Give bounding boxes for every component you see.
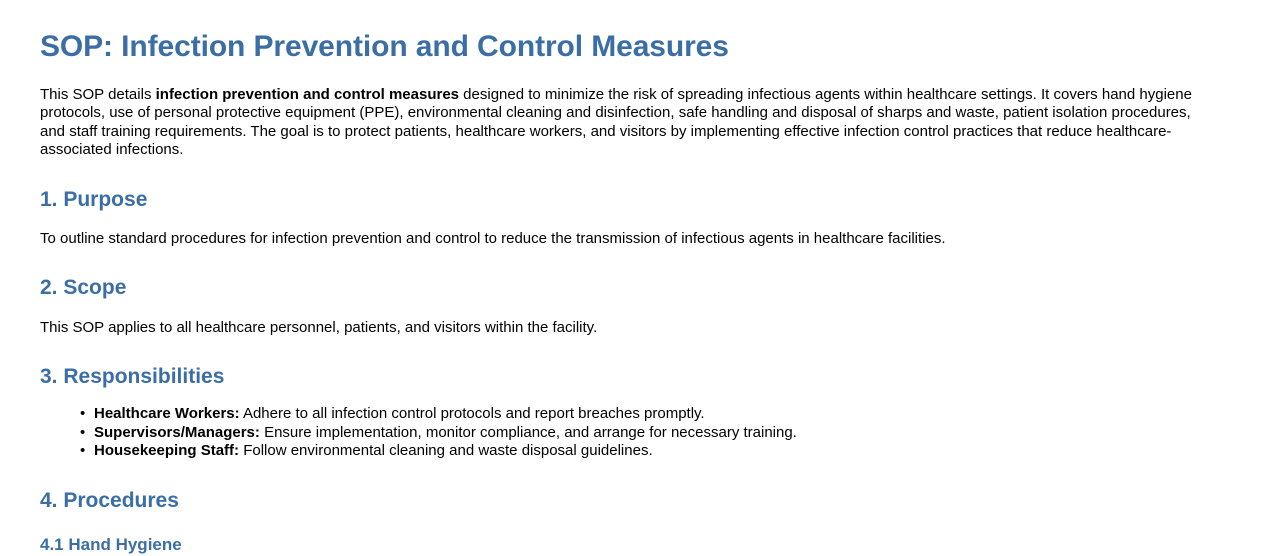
list-item: Healthcare Workers: Adhere to all infect… bbox=[80, 405, 1223, 424]
subsection-heading-hand-hygiene: 4.1 Hand Hygiene bbox=[40, 534, 1223, 556]
list-item-text: Adhere to all infection control protocol… bbox=[240, 405, 705, 422]
section-heading-responsibilities: 3. Responsibilities bbox=[40, 363, 1223, 390]
list-item: Housekeeping Staff: Follow environmental… bbox=[80, 442, 1223, 461]
section-heading-scope: 2. Scope bbox=[40, 274, 1223, 301]
intro-text-before-bold: This SOP details bbox=[40, 86, 156, 103]
list-item-lead: Housekeeping Staff: bbox=[94, 442, 239, 459]
list-item-lead: Supervisors/Managers: bbox=[94, 424, 260, 441]
list-item-text: Ensure implementation, monitor complianc… bbox=[260, 424, 797, 441]
document-page: SOP: Infection Prevention and Control Me… bbox=[0, 0, 1263, 556]
list-item-lead: Healthcare Workers: bbox=[94, 405, 240, 422]
responsibilities-list: Healthcare Workers: Adhere to all infect… bbox=[40, 405, 1223, 461]
section-heading-purpose: 1. Purpose bbox=[40, 186, 1223, 213]
intro-bold-phrase: infection prevention and control measure… bbox=[156, 86, 459, 103]
list-item-text: Follow environmental cleaning and waste … bbox=[239, 442, 653, 459]
spacer bbox=[40, 514, 1223, 518]
list-item: Supervisors/Managers: Ensure implementat… bbox=[80, 424, 1223, 443]
section-paragraph-purpose: To outline standard procedures for infec… bbox=[40, 230, 1215, 249]
intro-paragraph: This SOP details infection prevention an… bbox=[40, 86, 1215, 160]
section-paragraph-scope: This SOP applies to all healthcare perso… bbox=[40, 319, 1215, 338]
section-heading-procedures: 4. Procedures bbox=[40, 487, 1223, 514]
page-title: SOP: Infection Prevention and Control Me… bbox=[40, 28, 1223, 66]
